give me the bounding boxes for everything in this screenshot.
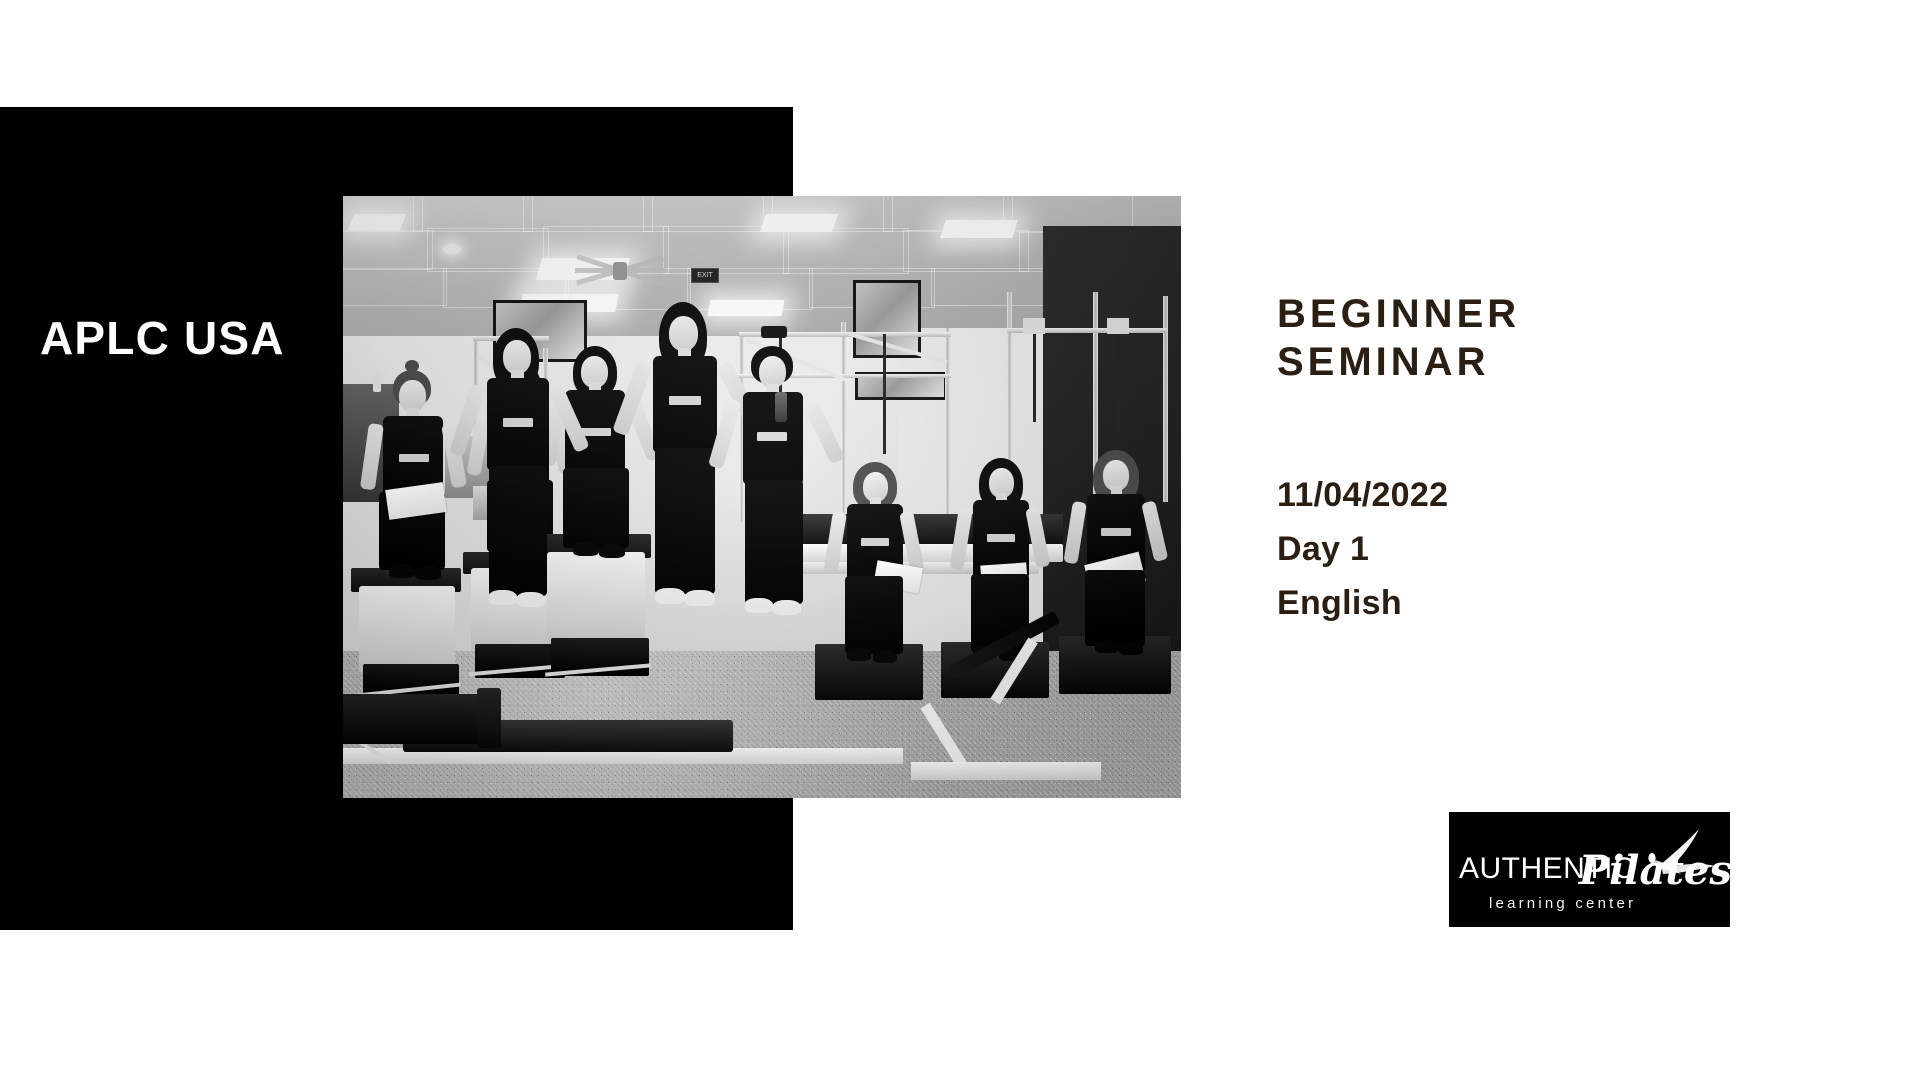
seminar-instructor	[459, 332, 577, 632]
seminar-participant	[1061, 452, 1171, 684]
logo-tagline: learning center	[1489, 895, 1636, 912]
headline-line-2: SEMINAR	[1277, 338, 1520, 386]
ceiling-fan-icon	[575, 256, 665, 286]
page-title: APLC USA	[40, 315, 285, 361]
seminar-instructor	[715, 348, 831, 648]
fire-extinguisher	[775, 392, 787, 422]
pilates-apparatus-foreground	[917, 666, 1097, 798]
seminar-day: Day 1	[1277, 522, 1448, 576]
headline-line-1: BEGINNER	[1277, 290, 1520, 338]
pilates-reformer-block	[343, 694, 487, 744]
photo-content: EXIT	[343, 196, 1181, 798]
authentic-pilates-logo: AUTHENTIC Pilates learning center	[1449, 812, 1730, 927]
seminar-date: 11/04/2022	[1277, 468, 1448, 522]
seminar-details: 11/04/2022 Day 1 English	[1277, 468, 1448, 630]
seminar-language: English	[1277, 576, 1448, 630]
logo-artwork: AUTHENTIC Pilates learning center	[1449, 812, 1730, 927]
pilates-reformer-bar	[477, 688, 501, 748]
exit-sign: EXIT	[691, 268, 719, 283]
seminar-group-photo: EXIT	[343, 196, 1181, 798]
seminar-participant	[821, 464, 927, 690]
headline: BEGINNER SEMINAR	[1277, 290, 1520, 386]
slide-canvas: APLC USA	[0, 0, 1920, 1080]
seminar-participant	[357, 374, 467, 604]
